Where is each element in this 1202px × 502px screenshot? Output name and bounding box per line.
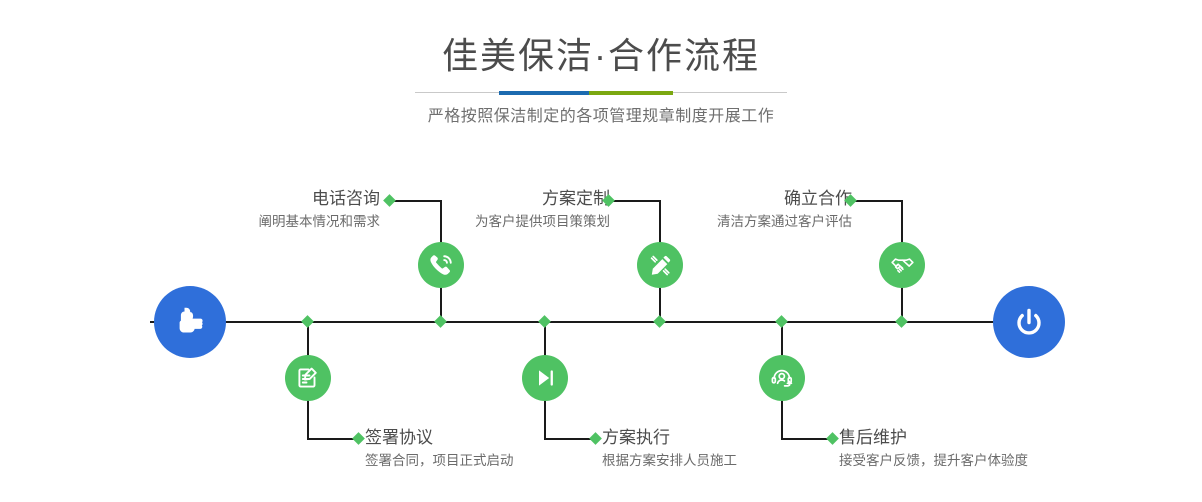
pencil-design-icon <box>647 252 674 279</box>
step-3-icon-circle[interactable] <box>637 242 683 288</box>
step-1-icon-circle[interactable] <box>418 242 464 288</box>
step-5-desc: 接受客户反馈，提升客户体验度 <box>839 451 1199 471</box>
step-6-desc: 清洁方案通过客户评估 <box>540 212 852 232</box>
step-5-title: 售后维护 <box>839 427 1199 449</box>
step-6-axis-diamond <box>895 315 908 328</box>
step-6-label: 确立合作 清洁方案通过客户评估 <box>540 188 852 232</box>
timeline-axis <box>150 321 1052 323</box>
step-4-axis-diamond <box>538 315 551 328</box>
timeline-start-node <box>154 286 226 358</box>
customer-service-add-icon <box>769 365 795 391</box>
power-icon <box>1009 302 1049 342</box>
step-5-label: 售后维护 接受客户反馈，提升客户体验度 <box>839 427 1199 471</box>
step-4-icon-circle[interactable] <box>522 355 568 401</box>
step-1-axis-diamond <box>434 315 447 328</box>
step-2-axis-diamond <box>301 315 314 328</box>
step-6-icon-circle[interactable] <box>879 242 925 288</box>
step-5-icon-circle[interactable] <box>759 355 805 401</box>
step-6-elbow <box>851 200 903 202</box>
play-execute-icon <box>532 365 558 391</box>
step-3-axis-diamond <box>653 315 666 328</box>
handshake-icon <box>889 252 916 279</box>
step-2-icon-circle[interactable] <box>285 355 331 401</box>
process-flow-infographic: 佳美保洁·合作流程 严格按照保洁制定的各项管理规章制度开展工作 <box>0 0 1202 502</box>
timeline-end-node <box>993 286 1065 358</box>
step-5-axis-diamond <box>775 315 788 328</box>
step-2-marker-diamond <box>352 432 365 445</box>
step-6-title: 确立合作 <box>540 188 852 210</box>
phone-call-icon <box>427 251 455 279</box>
timeline: 电话咨询 阐明基本情况和需求 签署协议 <box>0 0 1202 502</box>
contract-edit-icon <box>295 365 321 391</box>
pointing-hand-icon <box>170 302 210 342</box>
step-6-stem-upper <box>901 200 903 234</box>
